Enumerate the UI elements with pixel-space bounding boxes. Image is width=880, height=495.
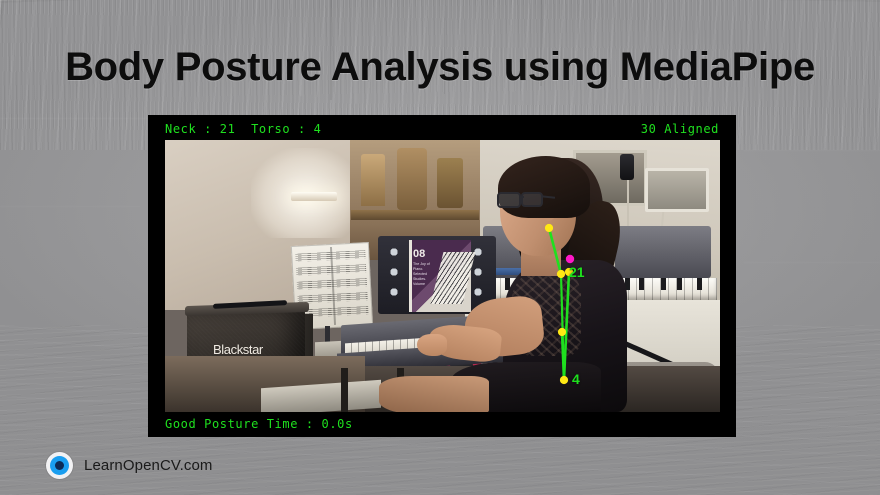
person-glasses-lens (497, 192, 521, 208)
bg-streak (60, 400, 150, 401)
cable (627, 180, 629, 228)
eye-icon (46, 452, 73, 479)
video-panel[interactable]: Neck : 21 Torso : 4 30 Aligned Good Post… (148, 115, 736, 437)
shelf-object (361, 154, 385, 206)
eye-icon-iris (50, 456, 69, 475)
learnopencv-logo[interactable]: LearnOpenCV.com (46, 452, 213, 479)
music-book-subtitle: The Joy of Piano. Selected Studies. Volu… (413, 262, 435, 287)
shelf-board (351, 210, 479, 220)
person-thigh (379, 376, 489, 412)
page-title: Body Posture Analysis using MediaPipe (0, 44, 880, 90)
person-hand (417, 334, 447, 356)
hud-alignment-status: 30 Aligned (641, 122, 719, 136)
amplifier-brand-label: Blackstar (213, 342, 263, 357)
hud-good-posture-time: Good Posture Time : 0.0s (165, 417, 353, 431)
bg-streak (0, 206, 140, 207)
wall-speaker (620, 154, 634, 180)
wall-monitor (645, 168, 709, 212)
bg-streak (0, 118, 148, 119)
hud-neck-torso-angles: Neck : 21 Torso : 4 (165, 122, 322, 136)
person-hair-top (498, 156, 590, 218)
music-book-number: 08 (413, 248, 425, 260)
video-frame: 08 The Joy of Piano. Selected Studies. V… (165, 140, 720, 412)
person-glasses-bridge (520, 196, 524, 198)
person-glasses-lens (521, 192, 543, 207)
eye-icon-pupil (55, 461, 64, 470)
ceiling-light (291, 192, 337, 201)
bg-streak (744, 262, 880, 263)
scene: 08 The Joy of Piano. Selected Studies. V… (165, 140, 720, 412)
shelf-object (397, 148, 427, 210)
shelf-object (437, 158, 463, 208)
bg-streak (770, 414, 856, 415)
stool-leg (341, 368, 348, 412)
bg-streak (744, 150, 880, 151)
logo-text: LearnOpenCV.com (84, 457, 213, 474)
